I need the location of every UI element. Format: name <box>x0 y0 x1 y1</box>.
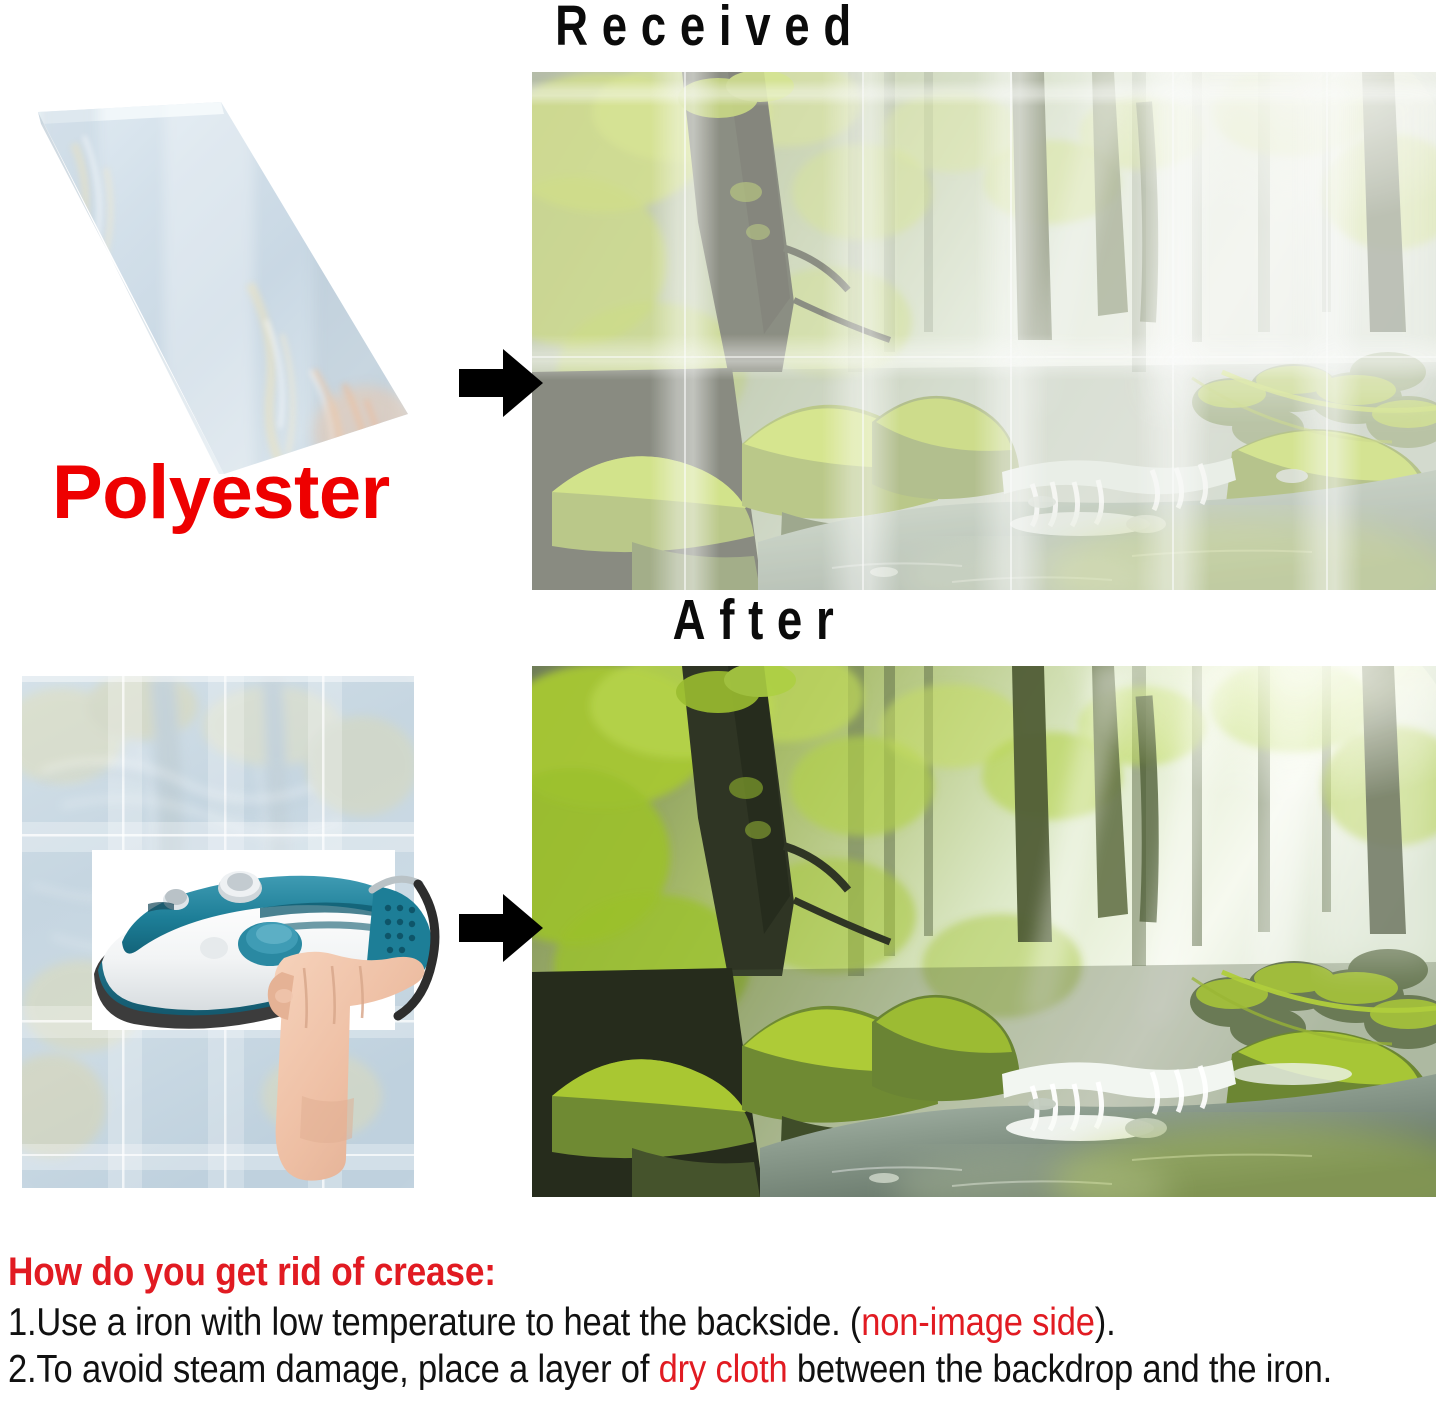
after-backdrop-photo <box>532 666 1436 1197</box>
instruction-line-1: 1.Use a iron with low temperature to hea… <box>8 1301 1268 1345</box>
instruction-line-2: 2.To avoid steam damage, place a layer o… <box>8 1348 1268 1392</box>
right-arrow-icon <box>459 345 543 421</box>
clothes-iron-icon <box>88 846 448 1196</box>
received-backdrop-photo <box>532 72 1436 590</box>
instruction-line-1-post: ). <box>1095 1301 1116 1344</box>
polyester-label: Polyester <box>52 455 390 531</box>
instructions-heading: How do you get rid of crease: <box>8 1248 1261 1297</box>
instruction-line-1-pre: 1.Use a iron with low temperature to hea… <box>8 1301 861 1344</box>
received-title: Received <box>486 0 934 55</box>
instruction-line-1-emphasis: non-image side <box>861 1301 1095 1344</box>
instructions-block: How do you get rid of crease: 1.Use a ir… <box>8 1248 1432 1392</box>
instruction-line-2-emphasis: dry cloth <box>659 1348 788 1391</box>
instruction-line-2-post: between the backdrop and the iron. <box>788 1348 1333 1391</box>
after-title: After <box>584 592 936 649</box>
instruction-line-2-pre: 2.To avoid steam damage, place a layer o… <box>8 1348 659 1391</box>
folded-fabric-image <box>14 84 424 484</box>
right-arrow-icon <box>459 890 543 966</box>
